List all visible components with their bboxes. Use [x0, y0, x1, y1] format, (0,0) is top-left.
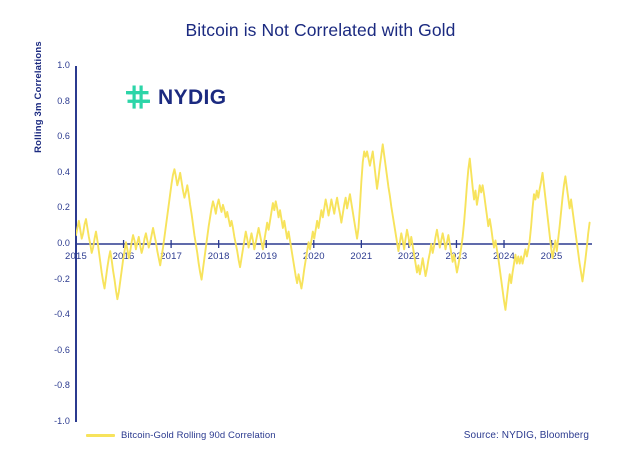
y-tick-label: 0.2 [36, 202, 70, 212]
series-line-chart [76, 66, 592, 422]
y-tick-label: 0.4 [36, 167, 70, 177]
y-tick-label: 1.0 [36, 60, 70, 70]
y-tick-label: 0.6 [36, 131, 70, 141]
chart-figure: Bitcoin is Not Correlated with Gold Roll… [0, 0, 641, 472]
y-tick-label: -0.2 [36, 274, 70, 284]
nydig-logo: NYDIG [125, 84, 227, 110]
y-tick-label: -1.0 [36, 416, 70, 426]
plot-area [76, 66, 592, 422]
y-axis-tick-labels: 1.00.80.60.40.20.0-0.2-0.4-0.6-0.8-1.0 [34, 0, 70, 472]
data-series-line [76, 144, 590, 310]
y-tick-label: -0.8 [36, 380, 70, 390]
legend-label: Bitcoin-Gold Rolling 90d Correlation [121, 430, 276, 441]
source-note: Source: NYDIG, Bloomberg [464, 430, 589, 441]
legend-color-swatch [86, 434, 115, 437]
nydig-mark-icon [125, 84, 151, 110]
y-tick-label: -0.4 [36, 309, 70, 319]
y-tick-label: 0.8 [36, 96, 70, 106]
y-tick-label: 0.0 [36, 238, 70, 248]
nydig-wordmark: NYDIG [158, 87, 227, 108]
chart-legend: Bitcoin-Gold Rolling 90d Correlation [86, 430, 276, 441]
y-tick-label: -0.6 [36, 345, 70, 355]
